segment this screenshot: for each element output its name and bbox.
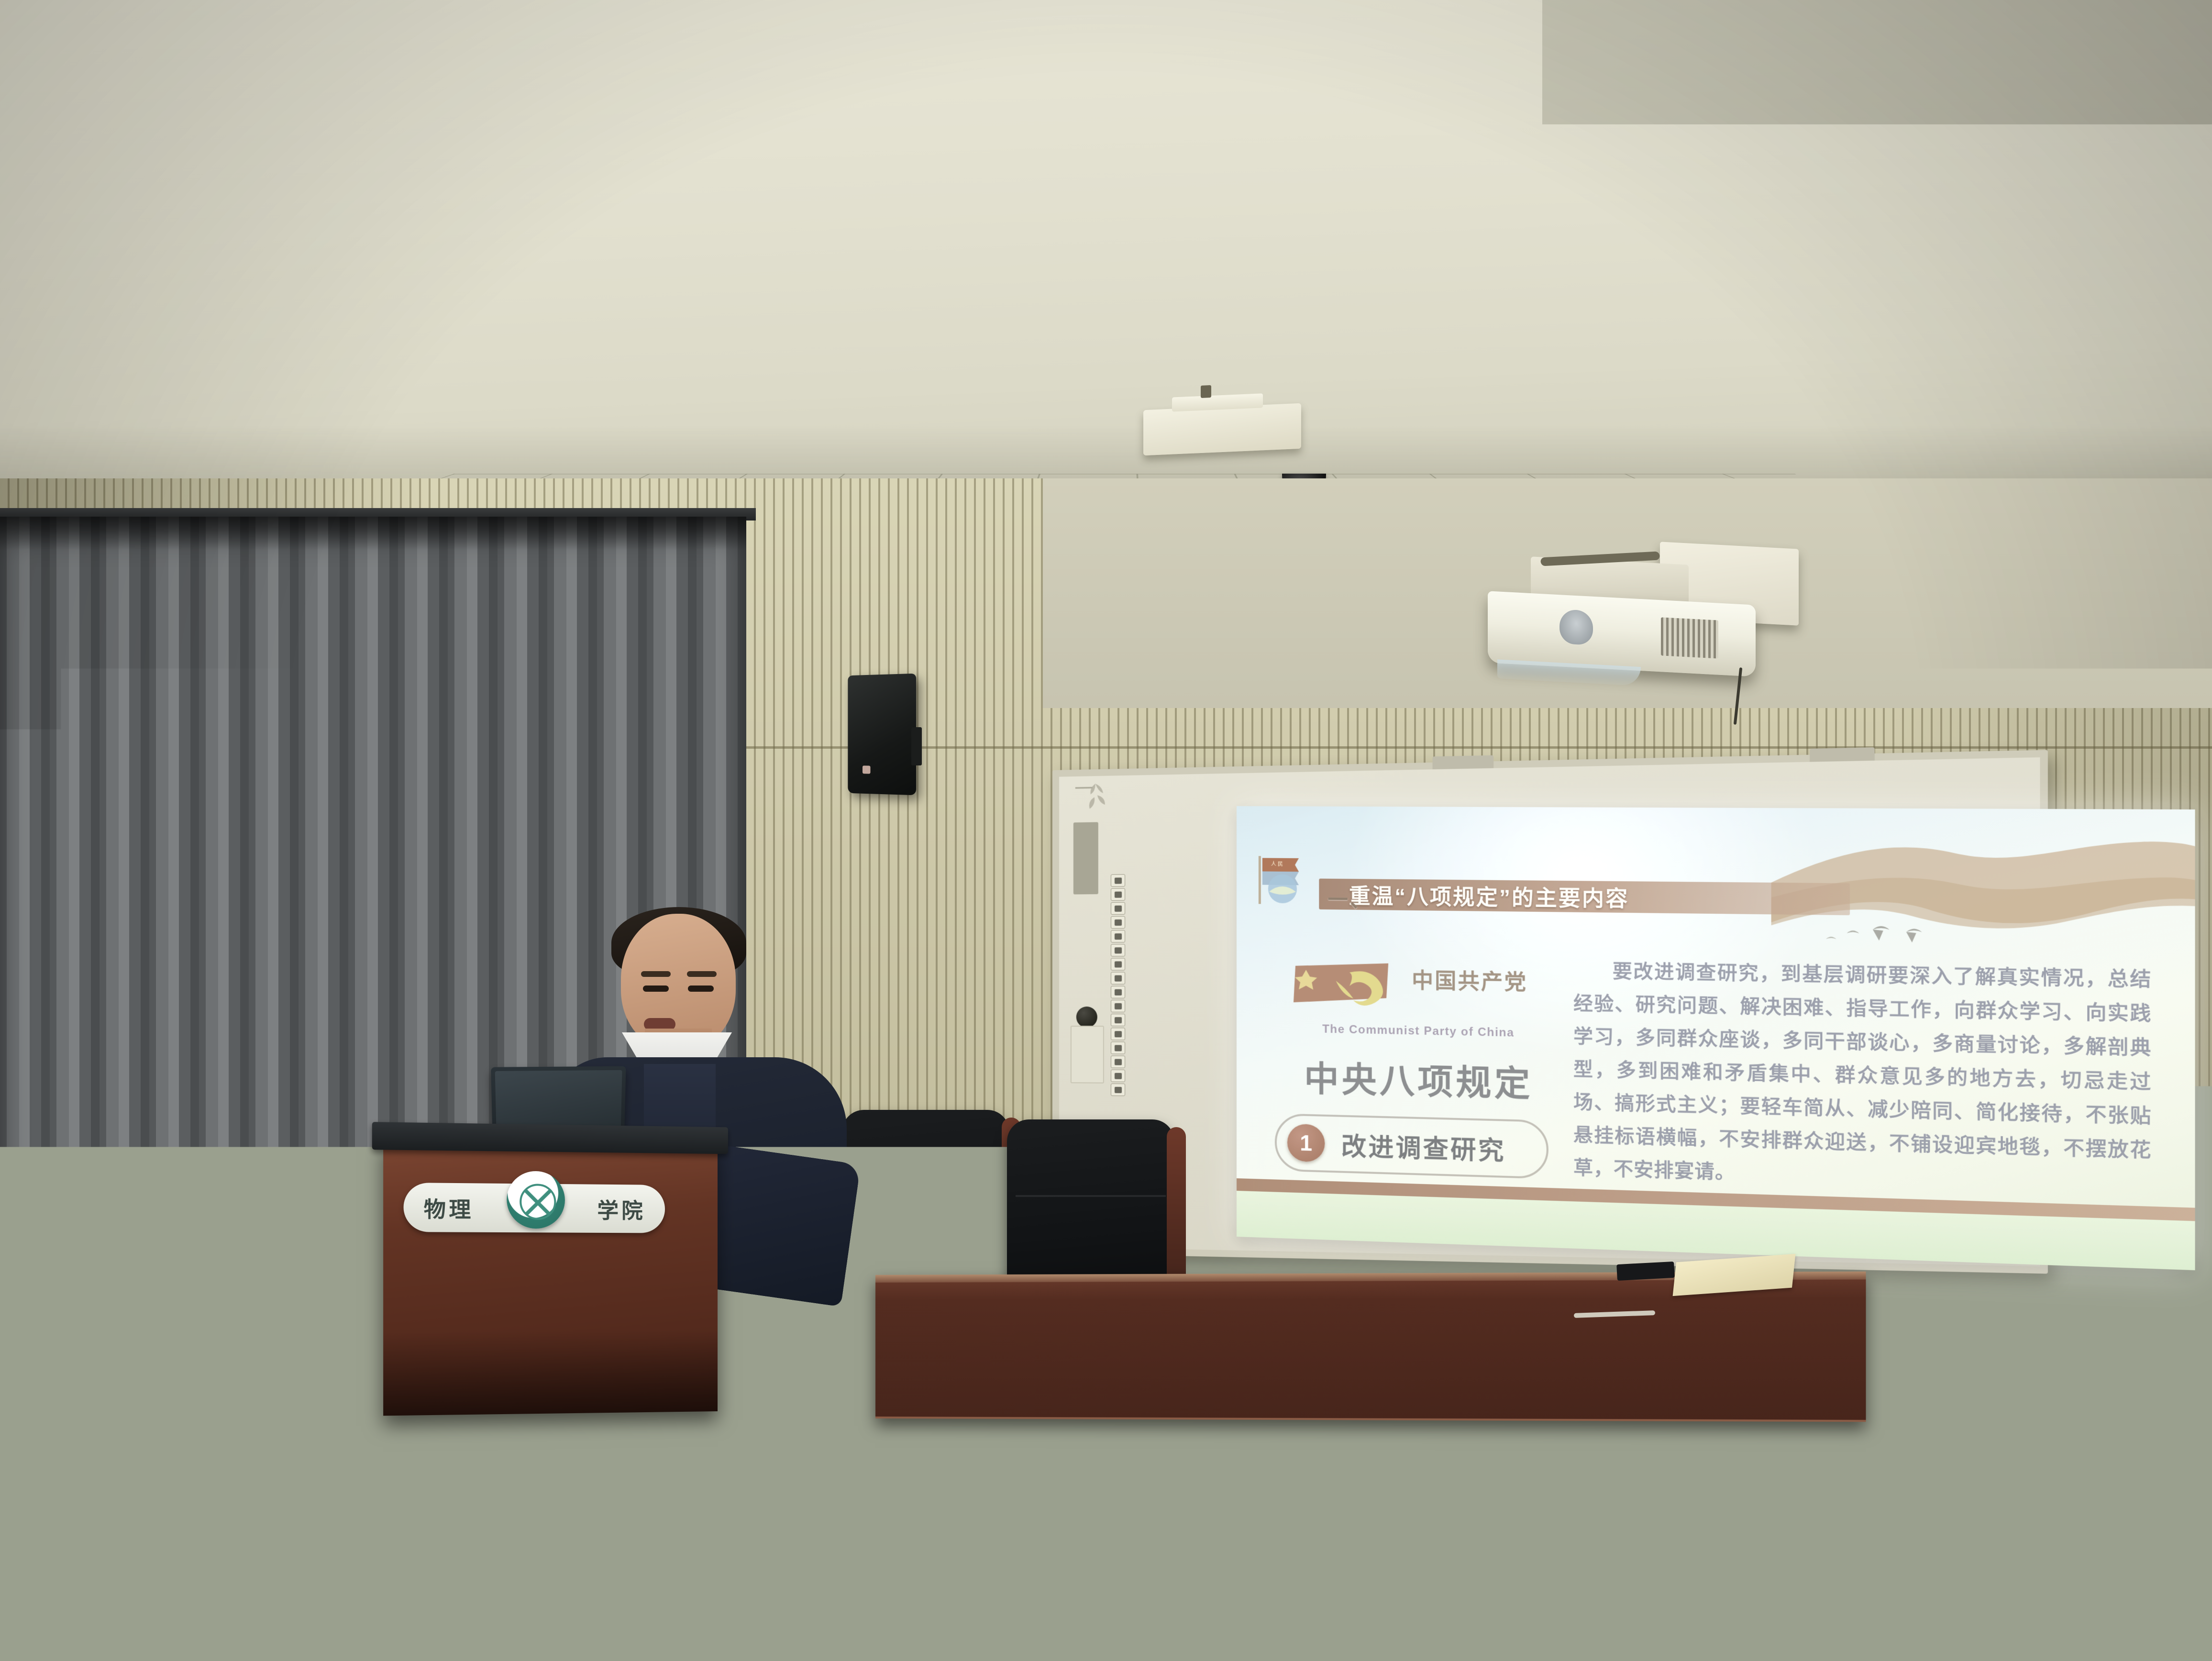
whiteboard-tool-icon[interactable]	[1111, 902, 1125, 915]
seat-number-tag	[705, 1392, 726, 1406]
seat-number-tag	[2181, 1571, 2202, 1585]
seat-back-cushion	[2106, 1546, 2212, 1661]
whiteboard-tool-icon[interactable]	[1111, 1041, 1125, 1054]
seat-number-tag	[36, 1473, 57, 1488]
podium-top-surface	[372, 1122, 728, 1154]
seat-number-tag	[286, 1392, 307, 1406]
whiteboard-ornament-icon	[1071, 780, 1128, 815]
seat-number-tag	[1711, 1473, 1732, 1488]
seat-number-tag	[1950, 1473, 1971, 1488]
slide-heading-zh: 中央八项规定	[1282, 1050, 1556, 1107]
ceiling	[0, 0, 2212, 521]
seat-number-tag	[1964, 1392, 1985, 1406]
slide-item-number: 1	[1287, 1124, 1325, 1163]
seat-back-cushion	[1288, 1546, 1459, 1661]
audience-seat[interactable]	[421, 1521, 688, 1661]
seat-number-tag	[272, 1571, 293, 1585]
whiteboard-tool-icon[interactable]	[1111, 1055, 1125, 1068]
cpc-flag-logo-icon: 中国共产党	[1292, 959, 1546, 1022]
seat-back-cushion	[742, 1546, 913, 1661]
seat-back-cushion	[469, 1546, 641, 1661]
whiteboard-tool-column[interactable]	[1111, 874, 1125, 1097]
audience-seat[interactable]	[694, 1521, 962, 1661]
whiteboard-tool-icon[interactable]	[1111, 1070, 1125, 1082]
seat-number-tag	[915, 1392, 936, 1406]
seat-back-cushion	[1560, 1546, 1732, 1661]
presenter-eye-left	[643, 986, 669, 992]
whiteboard-slot	[1073, 822, 1098, 894]
seat-number-tag	[1636, 1571, 1657, 1585]
school-crest-icon	[507, 1171, 565, 1229]
ceiling-mount-bracket	[1143, 403, 1301, 455]
seat-number-tag	[544, 1571, 565, 1585]
seat-number-tag	[1754, 1392, 1775, 1406]
audience-seat[interactable]	[148, 1521, 416, 1661]
seat-number-tag	[1545, 1392, 1566, 1406]
svg-text:人 民: 人 民	[1271, 861, 1283, 867]
whiteboard-tool-icon[interactable]	[1111, 874, 1125, 886]
seat-number-tag	[1335, 1392, 1356, 1406]
whiteboard-tool-icon[interactable]	[1111, 916, 1125, 929]
seat-number-tag	[276, 1473, 297, 1488]
bird-silhouettes-icon	[1823, 919, 1943, 955]
seat-number-tag	[1471, 1473, 1493, 1488]
projected-slide: 人 民 重温“八项规定”的主要内容 一、 中国共产党 The Communist…	[1237, 806, 2195, 1270]
wall-speaker-icon	[848, 674, 916, 796]
audience-seat[interactable]	[2057, 1521, 2212, 1661]
party-emblem-badge-icon: 人 民	[1255, 853, 1318, 911]
whiteboard-tool-icon[interactable]	[1111, 944, 1125, 956]
presenter-eye-right	[688, 986, 714, 992]
curtain-top-shadow	[0, 517, 746, 550]
seat-back-cushion	[197, 1546, 368, 1661]
audience-seat[interactable]	[967, 1521, 1234, 1661]
projector-vent	[1661, 617, 1718, 658]
seat-number-tag	[1232, 1473, 1253, 1488]
seat-number-tag	[993, 1473, 1014, 1488]
seat-number-tag	[76, 1392, 97, 1406]
seat-number-tag	[2189, 1473, 2210, 1488]
table-object	[1616, 1262, 1675, 1281]
seat-number-tag	[1125, 1392, 1146, 1406]
seat-number-tag	[2174, 1392, 2195, 1406]
whiteboard-clip-left	[1432, 755, 1493, 770]
projector-lens	[1559, 609, 1593, 645]
slide-body-text: 要改进调查研究，到基层调研要深入了解真实情况，总结经验、研究问题、解决困难、指导…	[1573, 954, 2152, 1202]
whiteboard-tool-icon[interactable]	[1111, 1028, 1125, 1040]
seat-back-cushion	[0, 1546, 95, 1661]
presenter-brow-left	[641, 971, 671, 977]
slide-item-label: 改进调查研究	[1341, 1126, 1506, 1167]
whiteboard-pen-tray[interactable]	[1071, 1026, 1104, 1084]
seat-number-tag	[754, 1473, 775, 1488]
whiteboard-tool-icon[interactable]	[1111, 1084, 1125, 1096]
seat-back-cushion	[1833, 1546, 2004, 1661]
presenter-brow-right	[687, 971, 717, 977]
whiteboard-tool-icon[interactable]	[1111, 888, 1125, 900]
whiteboard-tool-icon[interactable]	[1111, 1014, 1125, 1026]
slide-title-banner: 重温“八项规定”的主要内容	[1319, 879, 1850, 916]
seat-number-tag	[1908, 1571, 1929, 1585]
seat-back-cushion	[1015, 1546, 1186, 1661]
seat-number-tag	[0, 1571, 20, 1585]
slide-title-prefix: 一、	[1327, 884, 1372, 913]
audience-seat[interactable]	[0, 1521, 143, 1661]
projector-icon	[1488, 591, 1756, 676]
whiteboard-tool-icon[interactable]	[1111, 958, 1125, 970]
seat-number-tag	[818, 1571, 839, 1585]
seat-number-tag	[1090, 1571, 1111, 1585]
audience-seat[interactable]	[1512, 1521, 1780, 1661]
audience-seat[interactable]	[1785, 1521, 2052, 1661]
whiteboard-clip-right	[1810, 747, 1875, 762]
ceiling-dark-panel	[1542, 0, 2212, 124]
speaker-led-indicator	[863, 765, 870, 774]
seat-number-tag	[515, 1473, 536, 1488]
whiteboard-tool-icon[interactable]	[1111, 930, 1125, 942]
slide-item-pill: 1 改进调查研究	[1275, 1113, 1548, 1179]
whiteboard-tool-icon[interactable]	[1111, 986, 1125, 998]
whiteboard-tool-icon[interactable]	[1111, 1000, 1125, 1012]
audience-seat[interactable]	[1239, 1521, 1507, 1661]
lecture-hall-scene: 人 民 重温“八项规定”的主要内容 一、 中国共产党 The Communist…	[0, 0, 2212, 1661]
whiteboard-tool-icon[interactable]	[1111, 972, 1125, 984]
speaker-mount-bracket	[911, 727, 922, 765]
cpc-logo-block: 中国共产党 The Communist Party of China 中央八项规…	[1282, 959, 1556, 1107]
whiteboard-knob[interactable]	[1076, 1007, 1097, 1028]
seat-number-tag	[1363, 1571, 1384, 1585]
cpc-logo-en: The Communist Party of China	[1282, 1022, 1556, 1041]
podium-text-right: 学院	[597, 1193, 645, 1224]
cpc-logo-zh: 中国共产党	[1412, 969, 1527, 995]
podium-text-left: 物理	[424, 1192, 474, 1223]
seat-number-tag	[496, 1392, 517, 1406]
